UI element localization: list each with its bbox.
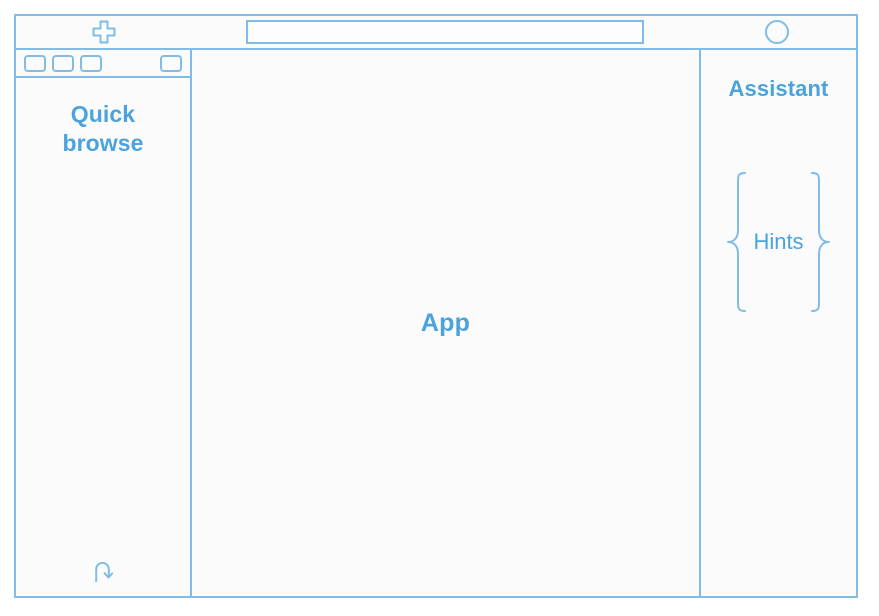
right-curly-brace-icon	[806, 170, 832, 314]
top-header-bar	[16, 16, 856, 50]
sidebar-title-line-1: Quick	[71, 101, 135, 127]
u-turn-arrow-icon	[88, 556, 118, 586]
u-turn-back-button[interactable]	[88, 556, 118, 586]
plus-icon	[91, 19, 117, 45]
assistant-panel: Assistant Hints	[701, 50, 856, 596]
sidebar-title-line-2: browse	[62, 130, 143, 156]
hints-block: Hints	[701, 170, 856, 314]
sidebar-tool-1-button[interactable]	[24, 55, 46, 72]
app-window-frame: Quick browse App	[14, 14, 858, 598]
sidebar-title: Quick browse	[62, 100, 143, 159]
account-avatar-icon[interactable]	[765, 20, 789, 44]
header-left-region	[16, 16, 192, 48]
sidebar-tool-2-button[interactable]	[52, 55, 74, 72]
sidebar-content: Quick browse	[16, 78, 190, 596]
left-curly-brace-icon	[725, 170, 751, 314]
app-main-canvas[interactable]: App	[192, 50, 701, 596]
quick-browse-sidebar: Quick browse	[16, 50, 192, 596]
header-right-region	[698, 16, 856, 48]
header-center-region	[192, 16, 698, 48]
hints-label: Hints	[753, 229, 803, 255]
sidebar-tool-3-button[interactable]	[80, 55, 102, 72]
sidebar-collapse-button[interactable]	[160, 55, 182, 72]
sidebar-toolbar	[16, 50, 190, 78]
app-label: App	[421, 309, 470, 338]
window-body: Quick browse App	[16, 50, 856, 596]
assistant-title: Assistant	[729, 76, 829, 102]
search-input[interactable]	[246, 20, 644, 44]
new-item-button[interactable]	[91, 19, 117, 45]
sidebar-footer	[16, 556, 190, 586]
